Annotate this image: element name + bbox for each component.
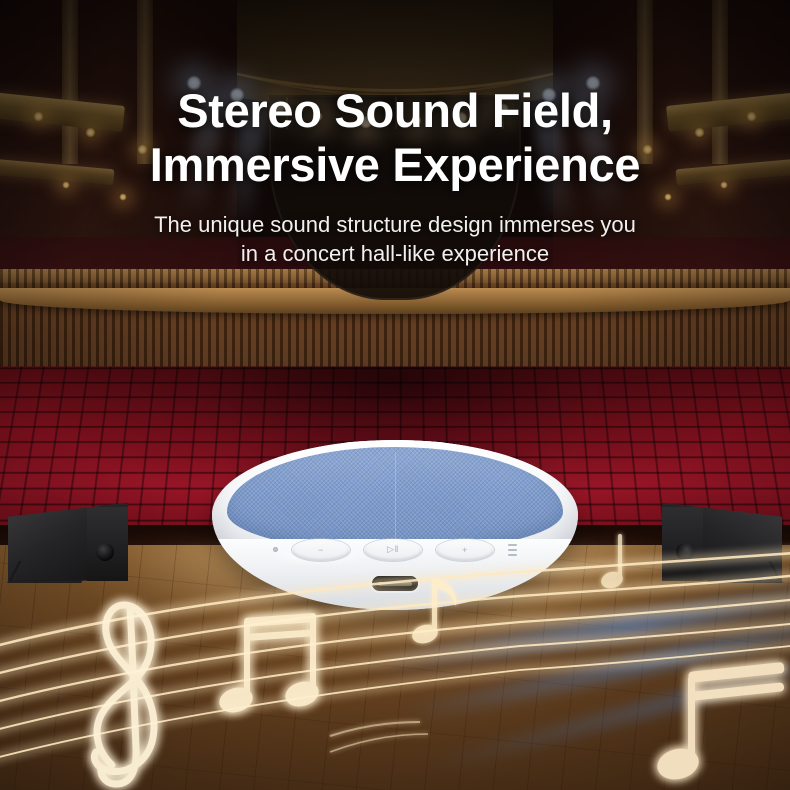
- monitor-cable: [697, 561, 783, 583]
- headline-line-2: Immersive Experience: [40, 138, 750, 192]
- headline-line-1: Stereo Sound Field,: [40, 84, 750, 138]
- fabric-seam: [395, 453, 396, 546]
- monitor-cable: [7, 561, 93, 583]
- left-stage-monitor: [8, 503, 128, 581]
- monitor-port-icon: [96, 543, 114, 561]
- volume-up-button[interactable]: +: [436, 539, 494, 561]
- monitor-port-icon: [676, 543, 694, 561]
- volume-down-button[interactable]: −: [292, 539, 350, 561]
- headline-block: Stereo Sound Field, Immersive Experience…: [0, 84, 790, 268]
- right-stage-monitor: [662, 503, 782, 581]
- subcopy-line-2: in a concert hall-like experience: [40, 239, 750, 268]
- usb-c-port: [372, 576, 418, 591]
- subcopy-line-1: The unique sound structure design immers…: [40, 210, 750, 239]
- product-banner: − ▷‖ +: [0, 0, 790, 790]
- speaker-control-row: − ▷‖ +: [212, 539, 578, 561]
- three-dashes-icon: [508, 544, 517, 556]
- usb-port-tongue: [378, 582, 411, 586]
- product-speaker: − ▷‖ +: [212, 440, 578, 610]
- play-pause-button[interactable]: ▷‖: [364, 539, 422, 561]
- speaker-body: − ▷‖ +: [212, 440, 578, 610]
- led-indicator-icon: [273, 547, 278, 552]
